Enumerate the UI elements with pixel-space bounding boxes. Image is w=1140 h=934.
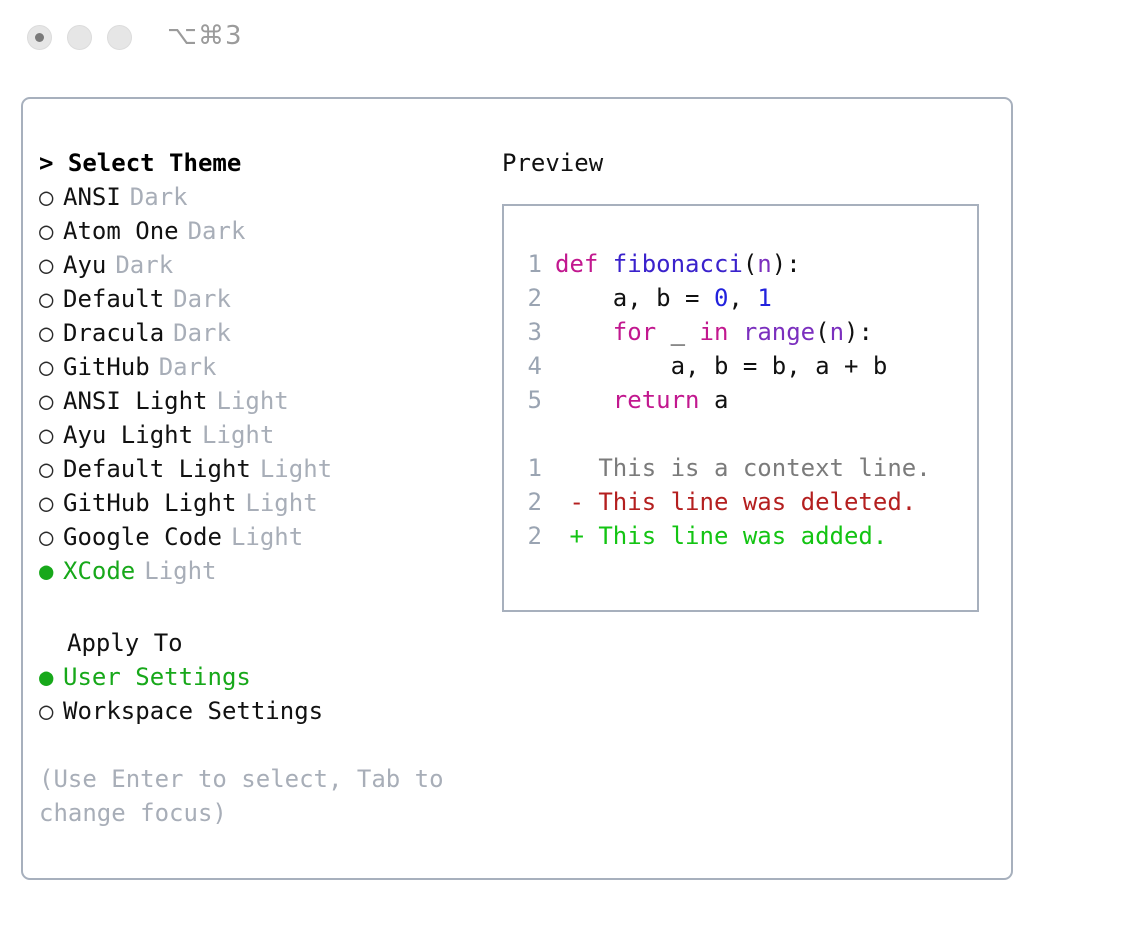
- code-token: return: [613, 386, 700, 414]
- diff-line-number: 2: [516, 519, 542, 553]
- theme-variant-tag: Light: [231, 520, 303, 554]
- theme-name-label: Google Code: [63, 520, 222, 554]
- apply-to-option-label: User Settings: [63, 660, 251, 694]
- radio-unselected-icon[interactable]: ○: [39, 180, 63, 214]
- theme-name-label: GitHub Light: [63, 486, 236, 520]
- apply-to-header: Apply To: [39, 626, 489, 660]
- diff-line: 1 This is a context line.: [516, 451, 973, 485]
- code-line-number: 2: [516, 281, 542, 315]
- theme-variant-tag: Dark: [188, 214, 246, 248]
- diff-line-text: This is a context line.: [555, 451, 931, 485]
- code-token: [555, 386, 613, 414]
- radio-unselected-icon[interactable]: ○: [39, 248, 63, 282]
- code-token: [728, 318, 742, 346]
- main-panel: > Select Theme ○ANSIDark○Atom OneDark○Ay…: [21, 97, 1013, 880]
- code-token: (: [815, 318, 829, 346]
- code-token: (: [743, 250, 757, 278]
- code-token: in: [700, 318, 729, 346]
- window-dot-2-icon[interactable]: [67, 25, 92, 50]
- theme-variant-tag: Dark: [173, 282, 231, 316]
- code-token: ):: [772, 250, 801, 278]
- radio-unselected-icon[interactable]: ○: [39, 350, 63, 384]
- radio-unselected-icon[interactable]: ○: [39, 316, 63, 350]
- radio-unselected-icon[interactable]: ○: [39, 214, 63, 248]
- radio-unselected-icon[interactable]: ○: [39, 282, 63, 316]
- theme-variant-tag: Dark: [115, 248, 173, 282]
- theme-name-label: Default: [63, 282, 164, 316]
- code-line-number: 3: [516, 315, 542, 349]
- radio-selected-icon[interactable]: ●: [39, 660, 63, 694]
- keyboard-shortcut-label: ⌥⌘3: [167, 21, 243, 51]
- keyboard-hint-text: (Use Enter to select, Tab to change focu…: [39, 762, 449, 830]
- code-token: a, b = b, a + b: [555, 352, 887, 380]
- code-line-text: a, b = 0, 1: [555, 281, 772, 315]
- apply-to-section: Apply To ●User Settings○Workspace Settin…: [39, 626, 489, 728]
- theme-list-item[interactable]: ●XCodeLight: [39, 554, 489, 588]
- code-token: _: [656, 318, 699, 346]
- theme-list-item[interactable]: ○Google CodeLight: [39, 520, 489, 554]
- theme-items-container: ○ANSIDark○Atom OneDark○AyuDark○DefaultDa…: [39, 180, 489, 588]
- theme-list-item[interactable]: ○DefaultDark: [39, 282, 489, 316]
- code-blank-separator: [516, 417, 973, 451]
- theme-variant-tag: Light: [202, 418, 274, 452]
- apply-to-option-label: Workspace Settings: [63, 694, 323, 728]
- code-line: 4 a, b = b, a + b: [516, 349, 973, 383]
- code-line-text: for _ in range(n):: [555, 315, 873, 349]
- radio-unselected-icon[interactable]: ○: [39, 694, 63, 728]
- window-dot-3-icon[interactable]: [107, 25, 132, 50]
- code-token: a, b =: [555, 284, 714, 312]
- theme-name-label: XCode: [63, 554, 135, 588]
- theme-variant-tag: Dark: [130, 180, 188, 214]
- theme-list-item[interactable]: ○GitHubDark: [39, 350, 489, 384]
- theme-list-item[interactable]: ○ANSI LightLight: [39, 384, 489, 418]
- preview-box: 1def fibonacci(n):2 a, b = 0, 13 for _ i…: [502, 204, 979, 612]
- theme-variant-tag: Dark: [159, 350, 217, 384]
- theme-name-label: ANSI: [63, 180, 121, 214]
- code-token: fibonacci: [613, 250, 743, 278]
- code-token: [555, 318, 613, 346]
- code-line-number: 1: [516, 247, 542, 281]
- radio-unselected-icon[interactable]: ○: [39, 520, 63, 554]
- radio-unselected-icon[interactable]: ○: [39, 384, 63, 418]
- diff-line-text: + This line was added.: [555, 519, 887, 553]
- apply-to-option[interactable]: ○Workspace Settings: [39, 694, 489, 728]
- code-token: for: [613, 318, 656, 346]
- preview-header: Preview: [502, 146, 992, 180]
- theme-name-label: Ayu: [63, 248, 106, 282]
- code-line: 1def fibonacci(n):: [516, 247, 973, 281]
- theme-name-label: Ayu Light: [63, 418, 193, 452]
- code-token: range: [743, 318, 815, 346]
- code-token: a: [700, 386, 729, 414]
- diff-line: 2 - This line was deleted.: [516, 485, 973, 519]
- theme-list-item[interactable]: ○Ayu LightLight: [39, 418, 489, 452]
- code-line-text: return a: [555, 383, 728, 417]
- select-theme-header: > Select Theme: [39, 146, 489, 180]
- code-token: 0: [714, 284, 728, 312]
- theme-list-item[interactable]: ○ANSIDark: [39, 180, 489, 214]
- code-preview-area: 1def fibonacci(n):2 a, b = 0, 13 for _ i…: [516, 247, 973, 553]
- apply-to-options-container: ●User Settings○Workspace Settings: [39, 660, 489, 728]
- theme-variant-tag: Dark: [173, 316, 231, 350]
- radio-selected-icon[interactable]: ●: [39, 554, 63, 588]
- theme-name-label: Default Light: [63, 452, 251, 486]
- code-line-number: 5: [516, 383, 542, 417]
- code-lines-container: 1def fibonacci(n):2 a, b = 0, 13 for _ i…: [516, 247, 973, 417]
- theme-list-item[interactable]: ○Atom OneDark: [39, 214, 489, 248]
- theme-variant-tag: Light: [260, 452, 332, 486]
- theme-name-label: Atom One: [63, 214, 179, 248]
- radio-unselected-icon[interactable]: ○: [39, 452, 63, 486]
- theme-variant-tag: Light: [144, 554, 216, 588]
- diff-line-number: 2: [516, 485, 542, 519]
- diff-line-text: - This line was deleted.: [555, 485, 916, 519]
- theme-list-item[interactable]: ○AyuDark: [39, 248, 489, 282]
- code-line-text: a, b = b, a + b: [555, 349, 887, 383]
- title-bar: ⌥⌘3: [0, 0, 1140, 78]
- window-controls: [27, 25, 132, 50]
- radio-unselected-icon[interactable]: ○: [39, 486, 63, 520]
- diff-line-number: 1: [516, 451, 542, 485]
- recording-indicator-icon[interactable]: [27, 25, 52, 50]
- recording-dot-icon: [35, 33, 44, 42]
- theme-variant-tag: Light: [245, 486, 317, 520]
- preview-column: Preview 1def fibonacci(n):2 a, b = 0, 13…: [502, 146, 992, 180]
- theme-name-label: ANSI Light: [63, 384, 208, 418]
- code-line-number: 4: [516, 349, 542, 383]
- theme-list-item[interactable]: ○DraculaDark: [39, 316, 489, 350]
- theme-list-item[interactable]: ○GitHub LightLight: [39, 486, 489, 520]
- radio-unselected-icon[interactable]: ○: [39, 418, 63, 452]
- code-token: def: [555, 250, 613, 278]
- theme-variant-tag: Light: [217, 384, 289, 418]
- code-token: n: [757, 250, 771, 278]
- theme-list-item[interactable]: ○Default LightLight: [39, 452, 489, 486]
- code-line: 3 for _ in range(n):: [516, 315, 973, 349]
- diff-lines-container: 1 This is a context line.2 - This line w…: [516, 451, 973, 553]
- code-line: 2 a, b = 0, 1: [516, 281, 973, 315]
- code-token: ):: [844, 318, 873, 346]
- code-token: ,: [728, 284, 757, 312]
- theme-selector-list: > Select Theme ○ANSIDark○Atom OneDark○Ay…: [39, 146, 489, 588]
- apply-to-option[interactable]: ●User Settings: [39, 660, 489, 694]
- code-token: n: [830, 318, 844, 346]
- code-token: 1: [757, 284, 771, 312]
- code-line-text: def fibonacci(n):: [555, 247, 801, 281]
- code-line: 5 return a: [516, 383, 973, 417]
- theme-name-label: GitHub: [63, 350, 150, 384]
- theme-name-label: Dracula: [63, 316, 164, 350]
- app-window: ⌥⌘3 > Select Theme ○ANSIDark○Atom OneDar…: [0, 0, 1140, 934]
- diff-line: 2 + This line was added.: [516, 519, 973, 553]
